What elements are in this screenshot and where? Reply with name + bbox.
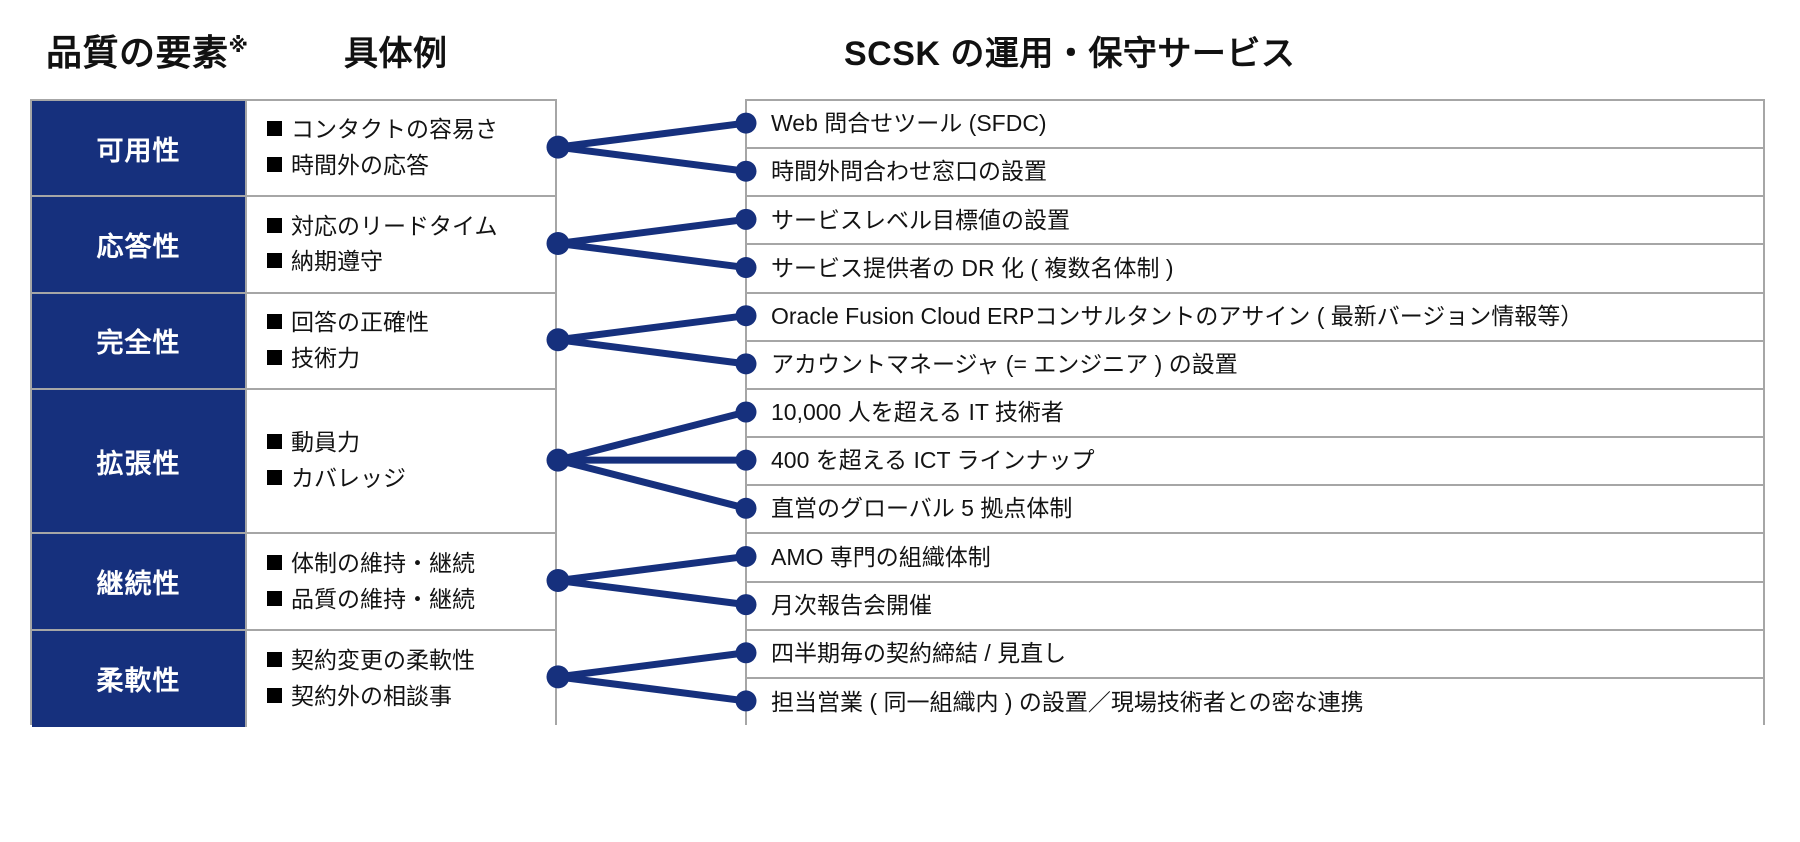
example-item: 契約変更の柔軟性 xyxy=(267,643,549,679)
example-item: 体制の維持・継続 xyxy=(267,546,549,582)
quality-category-cell: 継続性 xyxy=(32,534,247,628)
service-row: Web 問合せツール (SFDC) xyxy=(747,101,1763,149)
quality-row: 可用性コンタクトの容易さ時間外の応答 xyxy=(32,101,555,197)
quality-row: 柔軟性契約変更の柔軟性契約外の相談事 xyxy=(32,631,555,727)
quality-examples-cell: 体制の維持・継続品質の維持・継続 xyxy=(247,534,555,628)
connector-line xyxy=(558,677,746,701)
connector-line xyxy=(558,556,746,580)
example-item: 契約外の相談事 xyxy=(267,679,549,715)
bullet-square-icon xyxy=(267,121,282,136)
service-row-label: 四半期毎の契約締結 / 見直し xyxy=(771,640,1066,668)
quality-examples-cell: 契約変更の柔軟性契約外の相談事 xyxy=(247,631,555,727)
service-row: サービス提供者の DR 化 ( 複数名体制 ) xyxy=(747,245,1763,293)
diagram-canvas: 品質の要素※ 具体例 SCSK の運用・保守サービス 可用性コンタクトの容易さ時… xyxy=(0,0,1800,842)
quality-row: 継続性体制の維持・継続品質の維持・継続 xyxy=(32,534,555,630)
service-row-label: Oracle Fusion Cloud ERPコンサルタントのアサイン ( 最新… xyxy=(771,303,1583,331)
connector-line xyxy=(558,147,746,171)
bullet-square-icon xyxy=(267,470,282,485)
service-row: 担当営業 ( 同一組織内 ) の設置／現場技術者との密な連携 xyxy=(747,679,1763,727)
connector-line xyxy=(558,243,746,267)
connector-line xyxy=(558,412,746,460)
example-item: 品質の維持・継続 xyxy=(267,582,549,618)
services-table: Web 問合せツール (SFDC)時間外問合わせ窓口の設置サービスレベル目標値の… xyxy=(745,99,1765,725)
service-row-label: 10,000 人を超える IT 技術者 xyxy=(771,399,1064,427)
service-row: Oracle Fusion Cloud ERPコンサルタントのアサイン ( 最新… xyxy=(747,294,1763,342)
quality-category-cell: 柔軟性 xyxy=(32,631,247,727)
connector-line xyxy=(558,123,746,147)
bullet-square-icon xyxy=(267,652,282,667)
example-item-label: 対応のリードタイム xyxy=(291,209,498,245)
example-item: カバレッジ xyxy=(267,461,549,497)
example-item: 納期遵守 xyxy=(267,244,549,280)
service-row: 10,000 人を超える IT 技術者 xyxy=(747,390,1763,438)
example-item-label: 契約外の相談事 xyxy=(291,679,452,715)
bullet-square-icon xyxy=(267,555,282,570)
bullet-square-icon xyxy=(267,157,282,172)
bullet-square-icon xyxy=(267,350,282,365)
quality-category-cell: 完全性 xyxy=(32,294,247,388)
service-row-label: 直営のグローバル 5 拠点体制 xyxy=(771,495,1072,523)
service-row: 四半期毎の契約締結 / 見直し xyxy=(747,631,1763,679)
quality-examples-cell: 動員力カバレッジ xyxy=(247,390,555,532)
example-item-label: カバレッジ xyxy=(291,461,406,497)
quality-category-cell: 可用性 xyxy=(32,101,247,195)
connector-line xyxy=(558,460,746,508)
example-item: 回答の正確性 xyxy=(267,305,549,341)
quality-examples-cell: 回答の正確性技術力 xyxy=(247,294,555,388)
service-row: 時間外問合わせ窓口の設置 xyxy=(747,149,1763,197)
service-row-label: AMO 専門の組織体制 xyxy=(771,544,991,572)
quality-row: 拡張性動員力カバレッジ xyxy=(32,390,555,534)
header-quality-label: 品質の要素 xyxy=(46,32,229,73)
example-item-label: 時間外の応答 xyxy=(291,148,429,184)
example-item: コンタクトの容易さ xyxy=(267,112,549,148)
quality-examples-cell: 対応のリードタイム納期遵守 xyxy=(247,197,555,291)
example-item-label: 体制の維持・継続 xyxy=(291,546,475,582)
service-row-label: 時間外問合わせ窓口の設置 xyxy=(771,158,1047,186)
bullet-square-icon xyxy=(267,218,282,233)
bullet-square-icon xyxy=(267,314,282,329)
service-row: AMO 専門の組織体制 xyxy=(747,534,1763,582)
service-row-label: Web 問合せツール (SFDC) xyxy=(771,110,1047,138)
header-scsk-services: SCSK の運用・保守サービス xyxy=(844,26,1295,75)
example-item-label: 品質の維持・継続 xyxy=(291,582,475,618)
connector-line xyxy=(558,219,746,243)
example-item-label: コンタクトの容易さ xyxy=(291,112,498,148)
example-item: 技術力 xyxy=(267,341,549,377)
quality-examples-cell: コンタクトの容易さ時間外の応答 xyxy=(247,101,555,195)
header-examples: 具体例 xyxy=(344,26,448,75)
quality-row: 応答性対応のリードタイム納期遵守 xyxy=(32,197,555,293)
example-item-label: 納期遵守 xyxy=(291,244,383,280)
example-item: 動員力 xyxy=(267,425,549,461)
example-item-label: 動員力 xyxy=(291,425,360,461)
connector-line xyxy=(558,581,746,605)
service-row-label: アカウントマネージャ (= エンジニア ) の設置 xyxy=(771,351,1238,379)
example-item: 時間外の応答 xyxy=(267,148,549,184)
example-item-label: 契約変更の柔軟性 xyxy=(291,643,475,679)
connector-line xyxy=(558,340,746,364)
service-row-label: 400 を超える ICT ラインナップ xyxy=(771,447,1095,475)
service-row-label: 月次報告会開催 xyxy=(771,592,932,620)
quality-category-cell: 拡張性 xyxy=(32,390,247,532)
header-quality-elements: 品質の要素※ xyxy=(46,24,248,76)
bullet-square-icon xyxy=(267,253,282,268)
example-item-label: 技術力 xyxy=(291,341,360,377)
bullet-square-icon xyxy=(267,688,282,703)
quality-row: 完全性回答の正確性技術力 xyxy=(32,294,555,390)
example-item: 対応のリードタイム xyxy=(267,209,549,245)
header-quality-superscript-marker: ※ xyxy=(229,35,249,57)
service-row-label: サービス提供者の DR 化 ( 複数名体制 ) xyxy=(771,255,1174,283)
service-row: サービスレベル目標値の設置 xyxy=(747,197,1763,245)
connector-line xyxy=(558,316,746,340)
quality-category-cell: 応答性 xyxy=(32,197,247,291)
service-row-label: サービスレベル目標値の設置 xyxy=(771,207,1070,235)
service-row-label: 担当営業 ( 同一組織内 ) の設置／現場技術者との密な連携 xyxy=(771,689,1364,717)
service-row: アカウントマネージャ (= エンジニア ) の設置 xyxy=(747,342,1763,390)
service-row: 月次報告会開催 xyxy=(747,583,1763,631)
service-row: 400 を超える ICT ラインナップ xyxy=(747,438,1763,486)
connector-line xyxy=(558,653,746,677)
bullet-square-icon xyxy=(267,434,282,449)
example-item-label: 回答の正確性 xyxy=(291,305,429,341)
quality-elements-table: 可用性コンタクトの容易さ時間外の応答応答性対応のリードタイム納期遵守完全性回答の… xyxy=(30,99,557,725)
bullet-square-icon xyxy=(267,591,282,606)
service-row: 直営のグローバル 5 拠点体制 xyxy=(747,486,1763,534)
